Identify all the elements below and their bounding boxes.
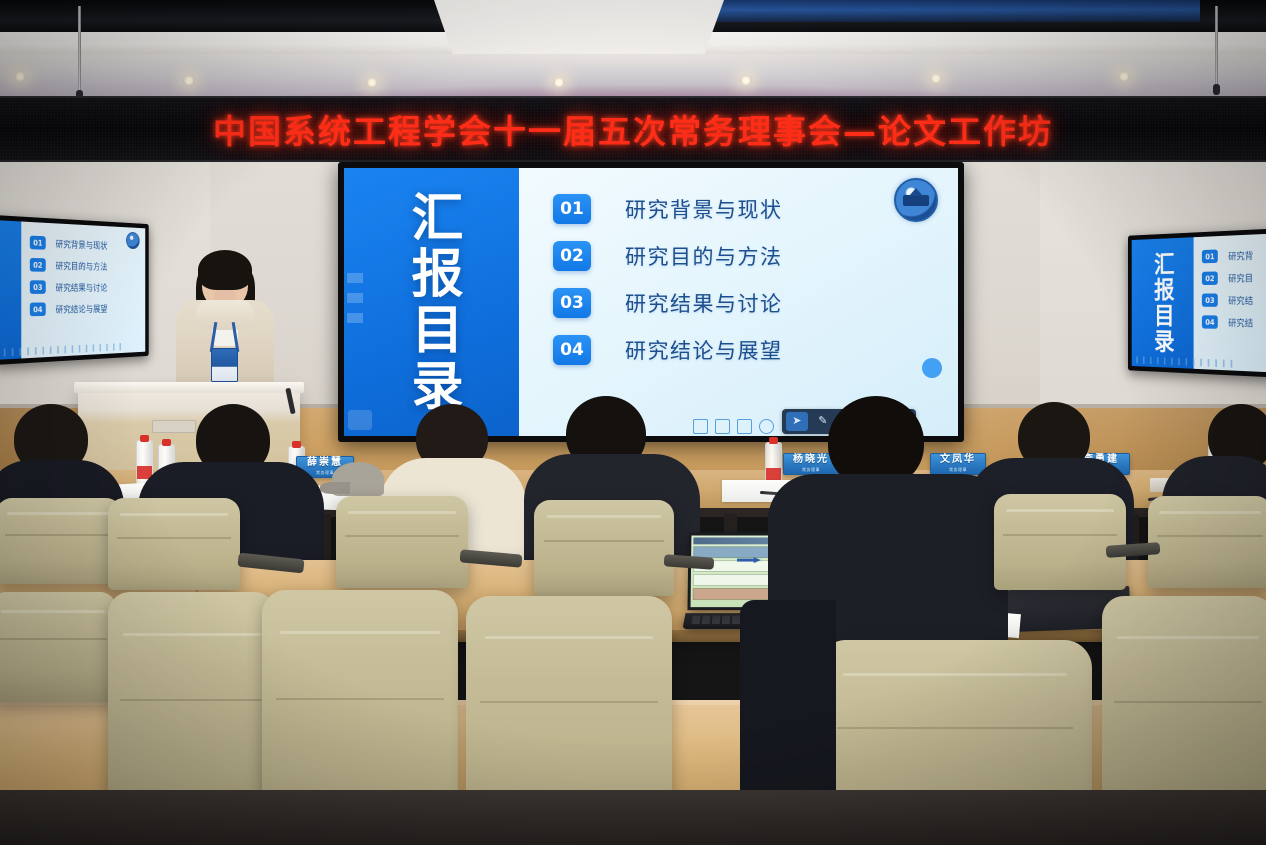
chair-seam [117, 537, 231, 539]
toc-number: 02 [1202, 271, 1218, 285]
ceiling-microphone [78, 6, 81, 92]
toc-number-badge: 03 [553, 288, 591, 318]
downlight-icon [740, 76, 752, 85]
downlight-icon [14, 72, 26, 81]
institution-logo-icon [894, 178, 938, 222]
toc-label: 研究目的与方法 [625, 241, 783, 271]
chair[interactable] [0, 592, 116, 702]
downlight-icon [930, 74, 942, 83]
floating-action-icon[interactable] [922, 358, 942, 378]
toc-number-badge: 04 [553, 335, 591, 365]
nameplate-name: 文凤华 [940, 455, 976, 465]
list-item: 04 研究结论与展望 [553, 335, 958, 365]
led-banner: 中国系统工程学会十一届五次常务理事会—论文工作坊 [0, 96, 1266, 162]
toc-number-badge: 01 [553, 194, 591, 224]
chair-seam [544, 540, 664, 542]
toc-label: 研究结果与讨论 [56, 280, 108, 293]
conference-room-scene: 中国系统工程学会十一届五次常务理事会—论文工作坊 01 研究背景与现状 02 研… [0, 0, 1266, 845]
nameplate: 文凤华 常务理事 [930, 453, 986, 475]
toc-label: 研究目 [1228, 271, 1253, 285]
chair-seam [120, 699, 264, 701]
toc-number-badge: 02 [553, 241, 591, 271]
toc-label: 研究背 [1228, 248, 1253, 262]
nameplate-name: 薛崇慧 [307, 458, 343, 468]
presenter-badge [211, 348, 238, 382]
nameplate-subtitle: 常务理事 [316, 470, 334, 476]
slide-decorative-marks [347, 273, 363, 331]
projection-screen-display: 汇报目录 01 研究背景与现状 02 研究目的与方法 03 研究 [344, 168, 958, 436]
left-monitor-title-panel [0, 220, 21, 360]
led-banner-text: 中国系统工程学会十一届五次常务理事会—论文工作坊 [0, 98, 1266, 160]
chair[interactable] [108, 498, 240, 590]
presenter-collar [196, 300, 254, 330]
slide-toc-panel: 01 研究背景与现状 02 研究目的与方法 03 研究结果与讨论 04 研究结论… [519, 168, 958, 436]
toc-label: 研究背景与现状 [625, 194, 783, 224]
attendee-cap-brim [320, 482, 350, 494]
right-monitor-slide: 汇报目录 01 研究背 02 研究目 03 研究结 [1132, 233, 1266, 373]
list-item: 01 研究背 [1202, 247, 1266, 263]
list-item: 04 研究结 [1202, 315, 1266, 330]
downlight-icon [1118, 72, 1130, 81]
chair-seam [0, 638, 107, 640]
list-item: 03 研究结 [1202, 293, 1266, 307]
toc-number: 01 [30, 236, 46, 250]
chair-seam [345, 535, 459, 537]
list-item: 03 研究结果与讨论 [30, 280, 145, 294]
floor [0, 790, 1266, 845]
left-monitor-toc: 01 研究背景与现状 02 研究目的与方法 03 研究结果与讨论 04 研究结论… [21, 222, 145, 359]
right-monitor-title-panel: 汇报目录 [1132, 237, 1194, 369]
nameplate-name: 杨晓光 [793, 455, 829, 465]
downlight-icon [366, 78, 378, 87]
left-monitor-toolbar[interactable] [4, 343, 126, 357]
list-item: 02 研究目的与方法 [553, 241, 958, 271]
institution-logo-icon [126, 232, 140, 250]
annotation-toolbar-light-group[interactable] [688, 419, 779, 434]
slide-title: 汇报目录 [1152, 251, 1173, 355]
ceiling-light-trough-left [0, 0, 470, 34]
chair-seam [1003, 534, 1117, 536]
chair[interactable] [534, 500, 674, 596]
left-monitor-screen: 01 研究背景与现状 02 研究目的与方法 03 研究结果与讨论 04 研究结论… [0, 220, 145, 360]
chair-seam [480, 701, 657, 703]
chair-seam [276, 698, 445, 700]
downlight-icon [553, 78, 565, 87]
slide-corner-badge [348, 410, 372, 430]
toc-label: 研究结果与讨论 [625, 288, 783, 318]
chair-seam [1157, 535, 1264, 537]
agenda-slide: 汇报目录 01 研究背景与现状 02 研究目的与方法 03 研究 [344, 168, 958, 436]
right-monitor-toc: 01 研究背 02 研究目 03 研究结 04 研究结 [1194, 233, 1266, 373]
presenter-hair [198, 250, 252, 290]
toc-label: 研究结 [1228, 316, 1253, 330]
podium-nameplate [152, 420, 196, 433]
list-item: 03 研究结果与讨论 [553, 288, 958, 318]
center-icon[interactable] [759, 419, 774, 434]
list-item: 02 研究目的与方法 [30, 258, 145, 273]
export-icon[interactable] [737, 419, 752, 434]
chair-seam [1114, 701, 1262, 703]
toc-label: 研究结论与展望 [625, 335, 783, 365]
document-icon[interactable] [715, 419, 730, 434]
toc-number: 01 [1202, 249, 1218, 263]
nameplate-subtitle: 常务理事 [802, 467, 820, 473]
monitor-icon[interactable] [693, 419, 708, 434]
toc-label: 研究结论与展望 [56, 302, 108, 316]
left-wall-monitor[interactable]: 01 研究背景与现状 02 研究目的与方法 03 研究结果与讨论 04 研究结论… [0, 215, 149, 365]
toc-number: 04 [1202, 315, 1218, 329]
toc-number: 04 [30, 302, 46, 316]
ceiling-blue-strip [700, 0, 1200, 22]
podium-top-surface [74, 382, 304, 393]
chair[interactable] [1148, 496, 1266, 588]
select-pointer-glyph: ➤ [792, 416, 801, 427]
chair-seam [5, 534, 113, 536]
toc-label: 研究目的与方法 [56, 259, 108, 273]
slide-title-panel: 汇报目录 [344, 168, 519, 436]
toc-number: 02 [30, 258, 46, 272]
toc-number: 03 [30, 280, 46, 294]
toc-number: 03 [1202, 293, 1218, 306]
right-wall-monitor[interactable]: 汇报目录 01 研究背 02 研究目 03 研究结 [1128, 228, 1266, 378]
toc-label: 研究结 [1228, 293, 1253, 307]
slide-title: 汇报目录 [405, 190, 458, 414]
toc-label: 研究背景与现状 [56, 237, 108, 252]
list-item: 04 研究结论与展望 [30, 301, 145, 316]
right-monitor-screen: 汇报目录 01 研究背 02 研究目 03 研究结 [1132, 233, 1266, 373]
chair[interactable] [994, 494, 1126, 590]
list-item: 02 研究目 [1202, 270, 1266, 285]
chair[interactable] [336, 496, 468, 588]
pen-glyph: ✎ [818, 416, 827, 427]
left-monitor-slide: 01 研究背景与现状 02 研究目的与方法 03 研究结果与讨论 04 研究结论… [0, 220, 145, 360]
nameplate-subtitle: 常务理事 [949, 467, 967, 473]
downlight-icon [183, 76, 195, 85]
select-pointer-icon[interactable]: ➤ [786, 412, 808, 431]
ceiling-microphone [1215, 6, 1218, 86]
chair[interactable] [0, 498, 122, 584]
chair-seam [837, 727, 1073, 729]
